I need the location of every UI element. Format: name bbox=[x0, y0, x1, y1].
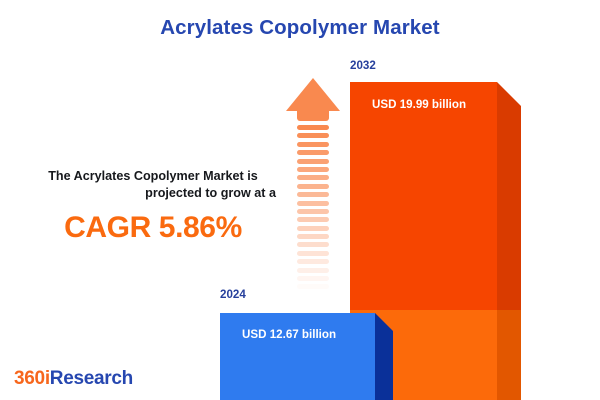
arrow-head-icon bbox=[286, 78, 340, 111]
arrow-shaft-segment bbox=[297, 268, 329, 273]
statement-line-2: projected to grow at a bbox=[22, 185, 284, 202]
arrow-shaft-segment bbox=[297, 201, 329, 206]
statement-line-1: The Acrylates Copolymer Market is bbox=[22, 168, 284, 185]
arrow-shaft-segment bbox=[297, 150, 329, 155]
brand-logo: 360iResearch bbox=[14, 368, 133, 390]
page-title: Acrylates Copolymer Market bbox=[0, 16, 600, 40]
arrow-shaft-segment bbox=[297, 175, 329, 180]
cagr-value: CAGR 5.86% bbox=[22, 211, 284, 245]
bar-2032-base-side-face bbox=[497, 310, 521, 400]
logo-part-research: Research bbox=[50, 368, 133, 389]
arrow-shaft-segment bbox=[297, 209, 329, 214]
arrow-shaft-segment bbox=[297, 142, 329, 147]
arrow-shaft-segment bbox=[297, 251, 329, 256]
bar-2032-side-face bbox=[497, 82, 521, 310]
arrow-shaft-segment bbox=[297, 226, 329, 231]
growth-arrow-icon bbox=[286, 78, 340, 293]
arrow-shaft-segment bbox=[297, 276, 329, 281]
arrow-shaft-segment bbox=[297, 284, 329, 289]
arrow-shaft-segment bbox=[297, 192, 329, 197]
bar-value-2024: USD 12.67 billion bbox=[242, 328, 336, 341]
arrow-shaft-segment bbox=[297, 234, 329, 239]
arrow-shaft-segment bbox=[297, 259, 329, 264]
infographic-root: Acrylates Copolymer Market The Acrylates… bbox=[0, 0, 600, 400]
arrow-shaft-segment bbox=[297, 167, 329, 172]
arrow-shaft-segment bbox=[297, 159, 329, 164]
year-label-2024: 2024 bbox=[220, 288, 246, 301]
arrow-shaft-segment bbox=[297, 125, 329, 130]
arrow-shaft-segment bbox=[297, 217, 329, 222]
arrow-shaft-icon bbox=[297, 125, 329, 293]
bar-value-2032: USD 19.99 billion bbox=[372, 98, 466, 111]
logo-part-360: 360 bbox=[14, 368, 45, 389]
arrow-shaft-segment bbox=[297, 242, 329, 247]
arrow-neck-icon bbox=[297, 109, 329, 121]
bar-2024-front-face bbox=[220, 313, 375, 400]
bar-2032-front-face bbox=[350, 82, 497, 310]
statement-block: The Acrylates Copolymer Market is projec… bbox=[22, 168, 284, 245]
arrow-shaft-segment bbox=[297, 133, 329, 138]
arrow-shaft-segment bbox=[297, 184, 329, 189]
year-label-2032: 2032 bbox=[350, 59, 376, 72]
